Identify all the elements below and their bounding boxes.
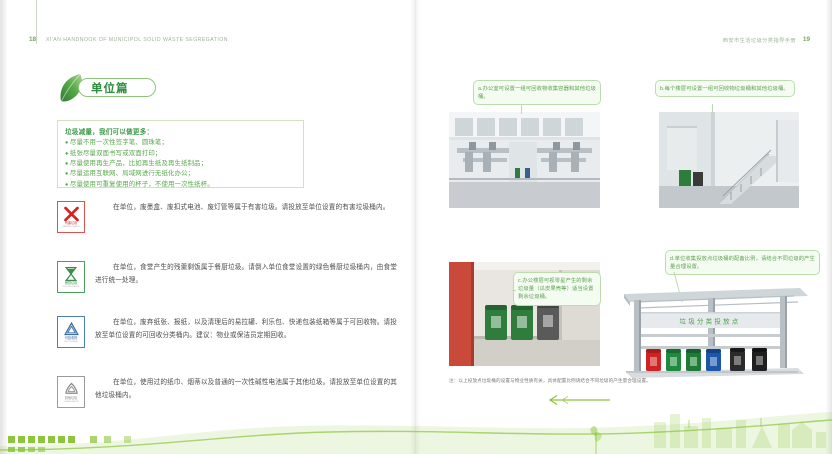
icon-caption: 餐厨垃圾 KITCHEN WASTE xyxy=(58,282,84,289)
tips-title: 垃圾减量，我们可以做更多： xyxy=(65,126,297,136)
category-text: 在单位，废墨盒、废扣式电池、废灯管等属于有害垃圾。请投放至单位设置的有害垃圾桶内… xyxy=(95,201,390,233)
category-text: 在单位，食堂产生的残羹剩饭属于餐厨垃圾。请倒入单位食堂设置的绿色餐厨垃圾桶内，由… xyxy=(95,261,397,293)
bin-kitchen-1 xyxy=(666,349,681,371)
category-row-recyclable: 可回收物 RECYCLABLE 在单位，废弃纸张、报纸，以及清理后的易拉罐、利乐… xyxy=(57,316,397,348)
kitchen-waste-icon: 餐厨垃圾 KITCHEN WASTE xyxy=(57,261,85,293)
running-head-left: XI'AN HANDNOOK OF MUNICIPOL SOLID WASTE … xyxy=(46,37,228,43)
open-plan-office-photo xyxy=(449,112,600,208)
shelter-art: 垃圾分类投放点 xyxy=(612,272,812,382)
stairwell-landing-photo xyxy=(659,112,799,208)
callout-b: b.每个楼层可设置一组可回收物垃圾桶和其他垃圾桶。 xyxy=(655,80,795,97)
bin-group xyxy=(646,348,767,371)
bullet-icon: ● xyxy=(65,171,68,177)
callout-a-stem xyxy=(521,104,522,114)
folio-left: 18 xyxy=(29,36,36,43)
page-right-edge xyxy=(826,0,832,454)
bullet-icon: ● xyxy=(65,161,68,167)
callout-b-stem xyxy=(712,104,713,114)
bin-kitchen-2 xyxy=(686,349,701,371)
callout-c: c.办公楼层可视零星产生的剩余垃圾量（瓜皮果壳等）适当设置剩余垃圾桶。 xyxy=(513,272,601,306)
office-photo-art xyxy=(449,112,600,208)
running-head-right: 西安市生活垃圾分类指导手册 xyxy=(723,37,796,44)
bullet-icon: ● xyxy=(65,182,68,188)
bin-recyclable xyxy=(706,349,721,371)
category-row-kitchen: 餐厨垃圾 KITCHEN WASTE 在单位，食堂产生的残羹剩饭属于餐厨垃圾。请… xyxy=(57,261,397,293)
icon-caption: 有害垃圾 HARMFUL WASTE xyxy=(58,222,84,229)
bin-other-2 xyxy=(752,348,767,371)
page-spread: 18 XI'AN HANDNOOK OF MUNICIPOL SOLID WAS… xyxy=(0,0,832,454)
header-rule xyxy=(36,0,37,44)
bin-other-1 xyxy=(730,348,745,371)
tips-item: ●尽量运用互联网、局域网进行无纸化办公； xyxy=(65,169,297,179)
category-row-hazardous: 有害垃圾 HARMFUL WASTE 在单位，废墨盒、废扣式电池、废灯管等属于有… xyxy=(57,201,397,233)
tips-item: ●尽量使用再生产品，比如再生纸及再生纸制品； xyxy=(65,159,297,169)
page-left-edge xyxy=(0,0,7,454)
chapter-title: 单位篇 xyxy=(91,80,129,96)
tips-item: ●尽量不用一次性签字笔、圆珠笔； xyxy=(65,138,297,148)
callout-c-stem xyxy=(512,290,516,291)
folio-right: 19 xyxy=(803,36,810,43)
chapter-badge: 单位篇 xyxy=(58,72,188,106)
waste-collection-shelter-illustration: 垃圾分类投放点 xyxy=(612,272,812,382)
icon-caption: 可回收物 RECYCLABLE xyxy=(58,337,84,344)
waste-reduction-tips-box: 垃圾减量，我们可以做更多： ●尽量不用一次性签字笔、圆珠笔； ●纸张尽量双面书写… xyxy=(57,120,304,188)
hazardous-waste-icon: 有害垃圾 HARMFUL WASTE xyxy=(57,201,85,233)
recyclable-waste-icon: 可回收物 RECYCLABLE xyxy=(57,316,85,348)
bin-hazardous xyxy=(646,349,661,371)
footer-decoration-band xyxy=(0,392,832,454)
tips-item: ●纸张尽量双面书写或双面打印； xyxy=(65,149,297,159)
stairwell-photo-art xyxy=(659,112,799,208)
shelter-sign-text: 垃圾分类投放点 xyxy=(680,317,741,326)
book-spine xyxy=(410,0,421,454)
bottom-note: 注：以上投放点垃圾桶的设置与物业性质有关，具体配置比例请结合不同垃圾的产生量合理… xyxy=(449,377,821,384)
tips-item: ●尽量使用可重复使用的杯子，不使用一次性纸杯。 xyxy=(65,180,297,190)
callout-a: a.办公室可设置一组可回收物收集容器和其他垃圾桶。 xyxy=(473,80,601,105)
category-text: 在单位，废弃纸张、报纸，以及清理后的易拉罐、利乐包、快递包装纸箱等属于可回收物。… xyxy=(95,316,397,348)
bullet-icon: ● xyxy=(65,140,68,146)
bullet-icon: ● xyxy=(65,151,68,157)
